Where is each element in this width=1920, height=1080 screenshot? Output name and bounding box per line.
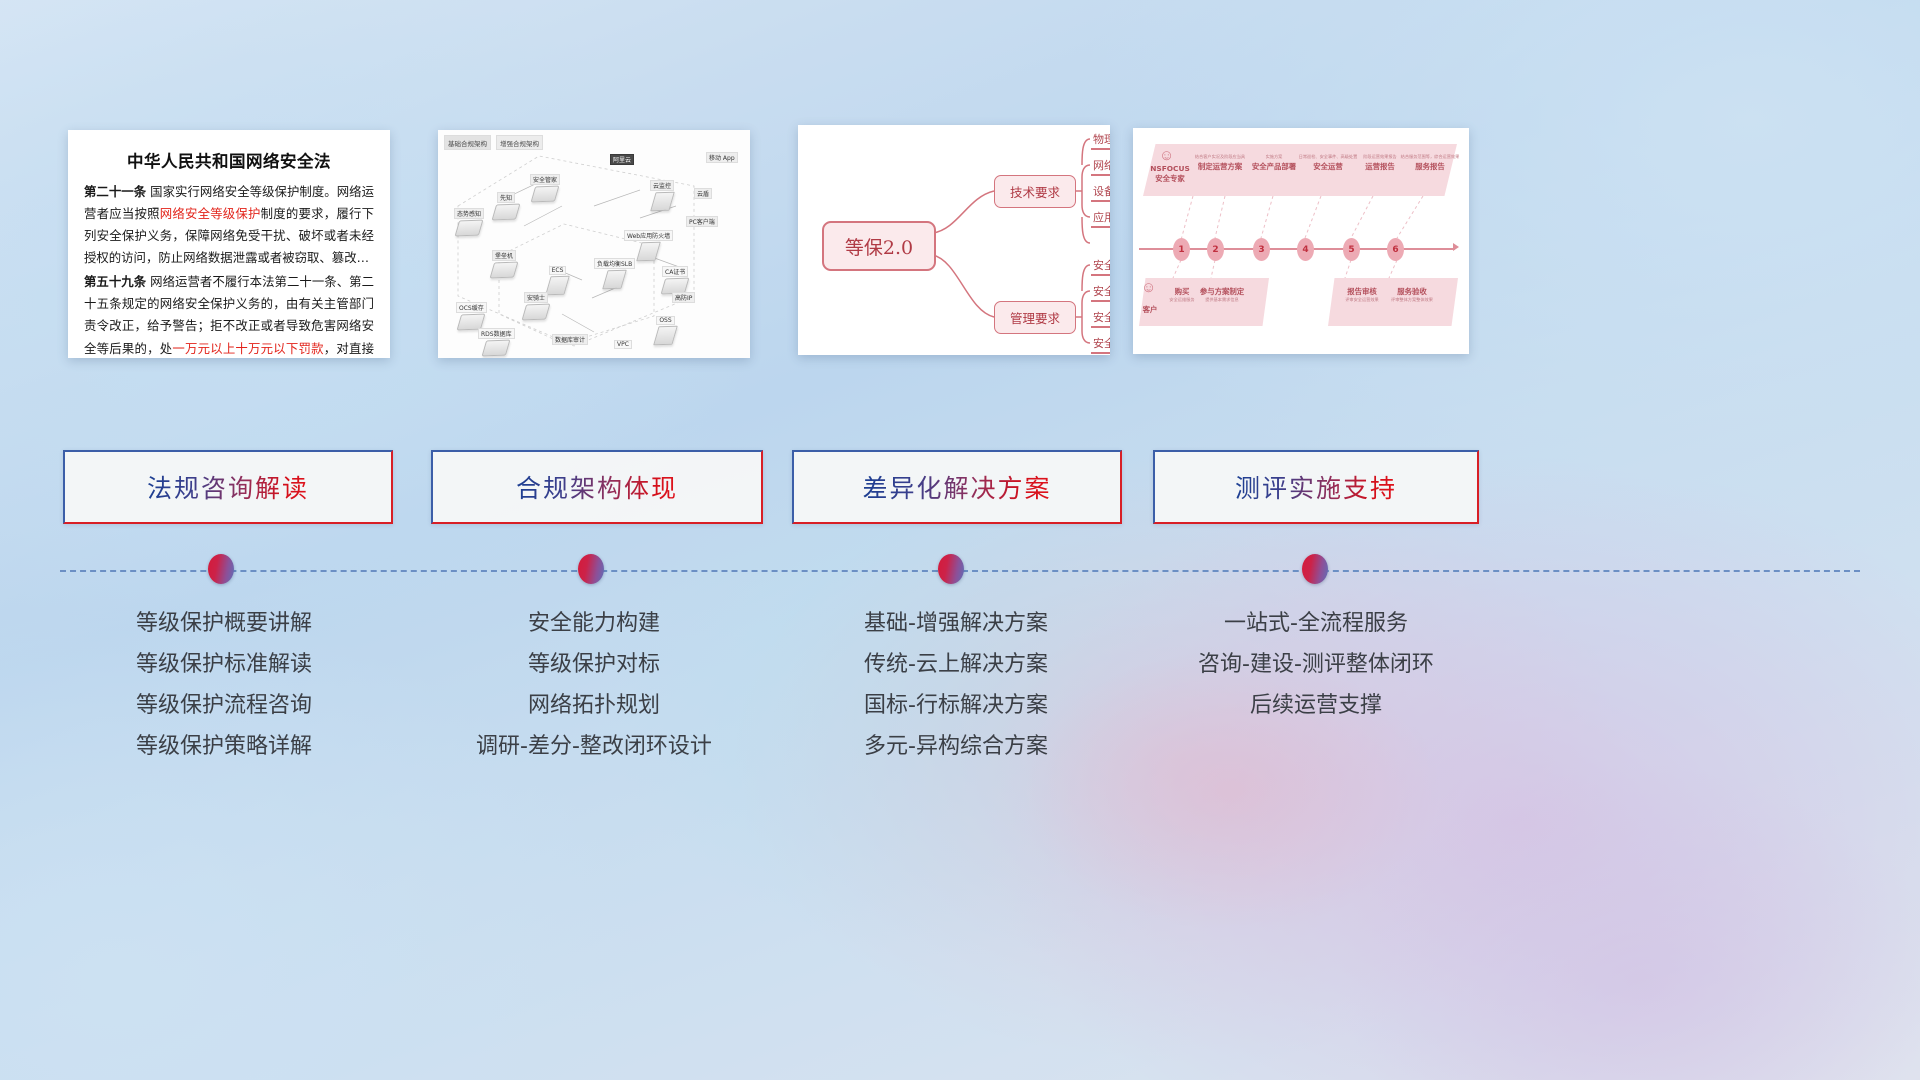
section-list-4: 一站式-全流程服务 咨询-建设-测评整体闭环 后续运营支撑 <box>1138 613 1494 736</box>
list-item: 后续运营支撑 <box>1138 695 1494 717</box>
node-vpc: VPC <box>614 340 632 350</box>
expert-person-icon: ☺ <box>1159 148 1174 163</box>
node-mobile-app: 移动 App <box>706 152 738 164</box>
timeline-top-step-2-sub: 实施方案 <box>1243 154 1305 160</box>
mindmap-leaf-app-data: 应用和数据安全 <box>1091 209 1110 228</box>
timeline-bottom-step-4-title: 服务验收 <box>1381 286 1443 297</box>
timeline-customer-label: 客户 <box>1133 304 1181 315</box>
timeline-top-step-1: 结合客户实况及阶段应当具 制定运营方案 <box>1189 154 1251 172</box>
list-item: 咨询-建设-测评整体闭环 <box>1138 654 1494 676</box>
section-heading-2[interactable]: 合规架构体现 <box>431 450 763 524</box>
list-item: 网络拓扑规划 <box>416 695 772 717</box>
node-anti-ddos-ip-label: 高防IP <box>672 292 695 303</box>
timeline-dot-1[interactable]: 1 <box>1173 238 1190 261</box>
mindmap-leaf-ops-mgmt: 安全运维管理 <box>1091 335 1110 354</box>
node-vpc-label: VPC <box>614 340 632 349</box>
node-pc-client-label: PC客户端 <box>686 216 718 227</box>
node-anti-ddos-ip: 高防IP <box>672 292 695 304</box>
node-database-audit-label: 数据库审计 <box>552 334 588 345</box>
timeline-bottom-step-2-sub: 提供基本需求信息 <box>1191 297 1253 303</box>
node-ocs-cache-label: OCS缓存 <box>456 302 487 313</box>
list-item: 等级保护标准解读 <box>46 654 402 676</box>
list-item: 多元-异构综合方案 <box>778 736 1134 758</box>
node-ca-certificate-label: CA证书 <box>662 266 688 277</box>
list-item: 等级保护策略详解 <box>46 736 402 758</box>
section-heading-1-label: 法规咨询解读 <box>147 469 309 505</box>
timeline-top-step-5-sub: 结合服务范围等，综合运营效果 <box>1399 154 1461 160</box>
node-anqishi-icon <box>522 304 551 321</box>
node-database-audit: 数据库审计 <box>552 334 588 346</box>
timeline-top-step-2-title: 安全产品部署 <box>1243 161 1305 172</box>
law-article-59-label: 第五十九条 <box>84 274 146 289</box>
node-oss-label: OSS <box>656 316 674 325</box>
node-waf-icon <box>636 242 661 262</box>
timeline-top-step-5-title: 服务报告 <box>1399 161 1461 172</box>
architecture-canvas: 阿里云 安全管家 先知 态势感知 堡垒机 ECS <box>444 146 744 354</box>
node-cloud: 阿里云 <box>610 154 634 166</box>
timeline-marker-4[interactable] <box>1302 554 1328 584</box>
node-anqishi: 安骑士 <box>524 292 548 320</box>
customer-label: 客户 <box>1133 304 1181 315</box>
mindmap-root-node[interactable]: 等保2.0 <box>822 221 936 271</box>
list-item: 调研-差分-整改闭环设计 <box>416 736 772 758</box>
timeline-dot-2[interactable]: 2 <box>1207 238 1224 261</box>
timeline-top-step-5: 结合服务范围等，综合运营效果 服务报告 <box>1399 154 1461 172</box>
expert-label-line2: 安全专家 <box>1139 173 1201 184</box>
node-xianzhi-label: 先知 <box>497 192 515 203</box>
section-list-3: 基础-增强解决方案 传统-云上解决方案 国标-行标解决方案 多元-异构综合方案 <box>778 613 1134 777</box>
timeline-dot-5[interactable]: 5 <box>1343 238 1360 261</box>
section-heading-4[interactable]: 测评实施支持 <box>1153 450 1479 524</box>
mindmap-branch-technical[interactable]: 技术要求 <box>994 175 1076 208</box>
node-anqishi-label: 安骑士 <box>524 292 548 303</box>
timeline-dot-3[interactable]: 3 <box>1253 238 1270 261</box>
node-waf-label: Web应用防火墙 <box>624 230 673 241</box>
timeline-dot-6[interactable]: 6 <box>1387 238 1404 261</box>
list-item: 传统-云上解决方案 <box>778 654 1134 676</box>
timeline-axis-arrow-icon <box>1453 243 1459 251</box>
node-situational-awareness-label: 态势感知 <box>454 208 484 219</box>
node-ocs-cache: OCS缓存 <box>456 302 487 330</box>
section-heading-3[interactable]: 差异化解决方案 <box>792 450 1122 524</box>
timeline-bottom-step-2-title: 参与方案制定 <box>1191 286 1253 297</box>
list-item: 一站式-全流程服务 <box>1138 613 1494 635</box>
node-oss: OSS <box>656 316 675 345</box>
timeline-top-step-2: 实施方案 安全产品部署 <box>1243 154 1305 172</box>
node-security-steward-icon <box>531 186 560 203</box>
node-ecs-label: ECS <box>549 266 567 275</box>
timeline-bottom-step-2: 参与方案制定 提供基本需求信息 <box>1191 286 1253 304</box>
node-slb-icon <box>602 270 627 290</box>
mindmap-leaf-physical-env: 物理和环境安全 <box>1091 131 1110 150</box>
list-item: 等级保护流程咨询 <box>46 695 402 717</box>
law-title: 中华人民共和国网络安全法 <box>84 148 374 172</box>
node-bastion-host-label: 堡垒机 <box>492 250 516 261</box>
law-article-21-label: 第二十一条 <box>84 184 146 199</box>
node-security-steward: 安全管家 <box>530 174 560 202</box>
mindmap-leaf-network-comm: 网络和通信安全 <box>1091 157 1110 176</box>
section-heading-1[interactable]: 法规咨询解读 <box>63 450 393 524</box>
timeline-marker-2[interactable] <box>578 554 604 584</box>
node-bastion-host-icon <box>490 262 519 279</box>
node-situational-awareness: 态势感知 <box>454 208 484 236</box>
node-yundun-label: 云盾 <box>694 188 712 199</box>
mindmap-leaf-construction-mgmt: 安全建设管理 <box>1091 309 1110 328</box>
law-article-21-highlight: 网络安全等级保护 <box>160 206 261 221</box>
timeline-top-step-1-sub: 结合客户实况及阶段应当具 <box>1189 154 1251 160</box>
mindmap-leaf-device-compute: 设备和计算安全 <box>1091 183 1110 202</box>
node-slb: 负载均衡SLB <box>594 258 635 289</box>
node-cloud-label: 阿里云 <box>610 154 634 165</box>
node-ca-certificate: CA证书 <box>662 266 688 294</box>
node-xianzhi-icon <box>492 204 521 221</box>
timeline-dot-4[interactable]: 4 <box>1297 238 1314 261</box>
node-rds-database-label: RDS数据库 <box>478 328 515 339</box>
node-security-steward-label: 安全管家 <box>530 174 560 185</box>
list-item: 安全能力构建 <box>416 613 772 635</box>
timeline-marker-1[interactable] <box>208 554 234 584</box>
node-rds-database-icon <box>482 340 511 357</box>
node-waf: Web应用防火墙 <box>624 230 673 261</box>
list-item: 基础-增强解决方案 <box>778 613 1134 635</box>
timeline-bottom-step-4-sub: 评审整体方案整体效果 <box>1381 297 1443 303</box>
timeline-bottom-step-4: 服务验收 评审整体方案整体效果 <box>1381 286 1443 304</box>
node-ecs-icon <box>545 276 570 296</box>
section-heading-2-label: 合规架构体现 <box>516 469 678 505</box>
law-paragraph-59: 第五十九条 网络运营者不履行本法第二十一条、第二十五条规定的网络安全保护义务的，… <box>84 271 374 358</box>
section-heading-3-label: 差异化解决方案 <box>862 469 1051 505</box>
node-oss-icon <box>653 326 678 346</box>
node-cloud-monitor-icon <box>650 192 675 212</box>
section-heading-4-label: 测评实施支持 <box>1235 469 1397 505</box>
node-rds-database: RDS数据库 <box>478 328 515 356</box>
list-item: 等级保护概要讲解 <box>46 613 402 635</box>
card-mindmap[interactable]: 等保2.0 技术要求 物理和环境安全 网络和通信安全 设备和计算安全 应用和数据… <box>798 125 1110 355</box>
node-cloud-monitor-label: 云监控 <box>650 180 674 191</box>
architecture-connectors <box>444 146 744 354</box>
card-architecture-diagram[interactable]: 基础合规架构 增强合规架构 阿里云 安全管家 <box>438 130 750 358</box>
node-ecs: ECS <box>548 266 567 295</box>
node-situational-awareness-icon <box>455 220 484 237</box>
section-list-1: 等级保护概要讲解 等级保护标准解读 等级保护流程咨询 等级保护策略详解 <box>46 613 402 777</box>
timeline-top-step-1-title: 制定运营方案 <box>1189 161 1251 172</box>
law-article-59-highlight-1: 一万元以上十万元以下罚款 <box>172 341 323 356</box>
list-item: 国标-行标解决方案 <box>778 695 1134 717</box>
timeline-marker-3[interactable] <box>938 554 964 584</box>
mindmap-branch-management[interactable]: 管理要求 <box>994 301 1076 334</box>
node-cloud-monitor: 云监控 <box>650 180 674 211</box>
node-slb-label: 负载均衡SLB <box>594 258 635 269</box>
mindmap-leaf-org-personnel: 安全管理机构和人员 <box>1091 283 1110 302</box>
node-pc-client: PC客户端 <box>686 216 718 228</box>
section-list-2: 安全能力构建 等级保护对标 网络拓扑规划 调研-差分-整改闭环设计 <box>416 613 772 777</box>
card-law-text[interactable]: 中华人民共和国网络安全法 第二十一条 国家实行网络安全等级保护制度。网络运营者应… <box>68 130 390 358</box>
node-mobile-app-label: 移动 App <box>706 152 738 163</box>
card-service-timeline[interactable]: ☺ NSFOCUS 安全专家 结合客户实况及阶段应当具 制定运营方案 实施方案 … <box>1133 128 1469 354</box>
list-item: 等级保护对标 <box>416 654 772 676</box>
node-bastion-host: 堡垒机 <box>492 250 516 278</box>
node-yundun: 云盾 <box>694 188 712 200</box>
law-paragraph-21: 第二十一条 国家实行网络安全等级保护制度。网络运营者应当按照网络安全等级保护制度… <box>84 181 374 269</box>
mindmap-leaf-policy-system: 安全策略和管理制度 <box>1091 257 1110 276</box>
node-xianzhi: 先知 <box>494 192 518 220</box>
